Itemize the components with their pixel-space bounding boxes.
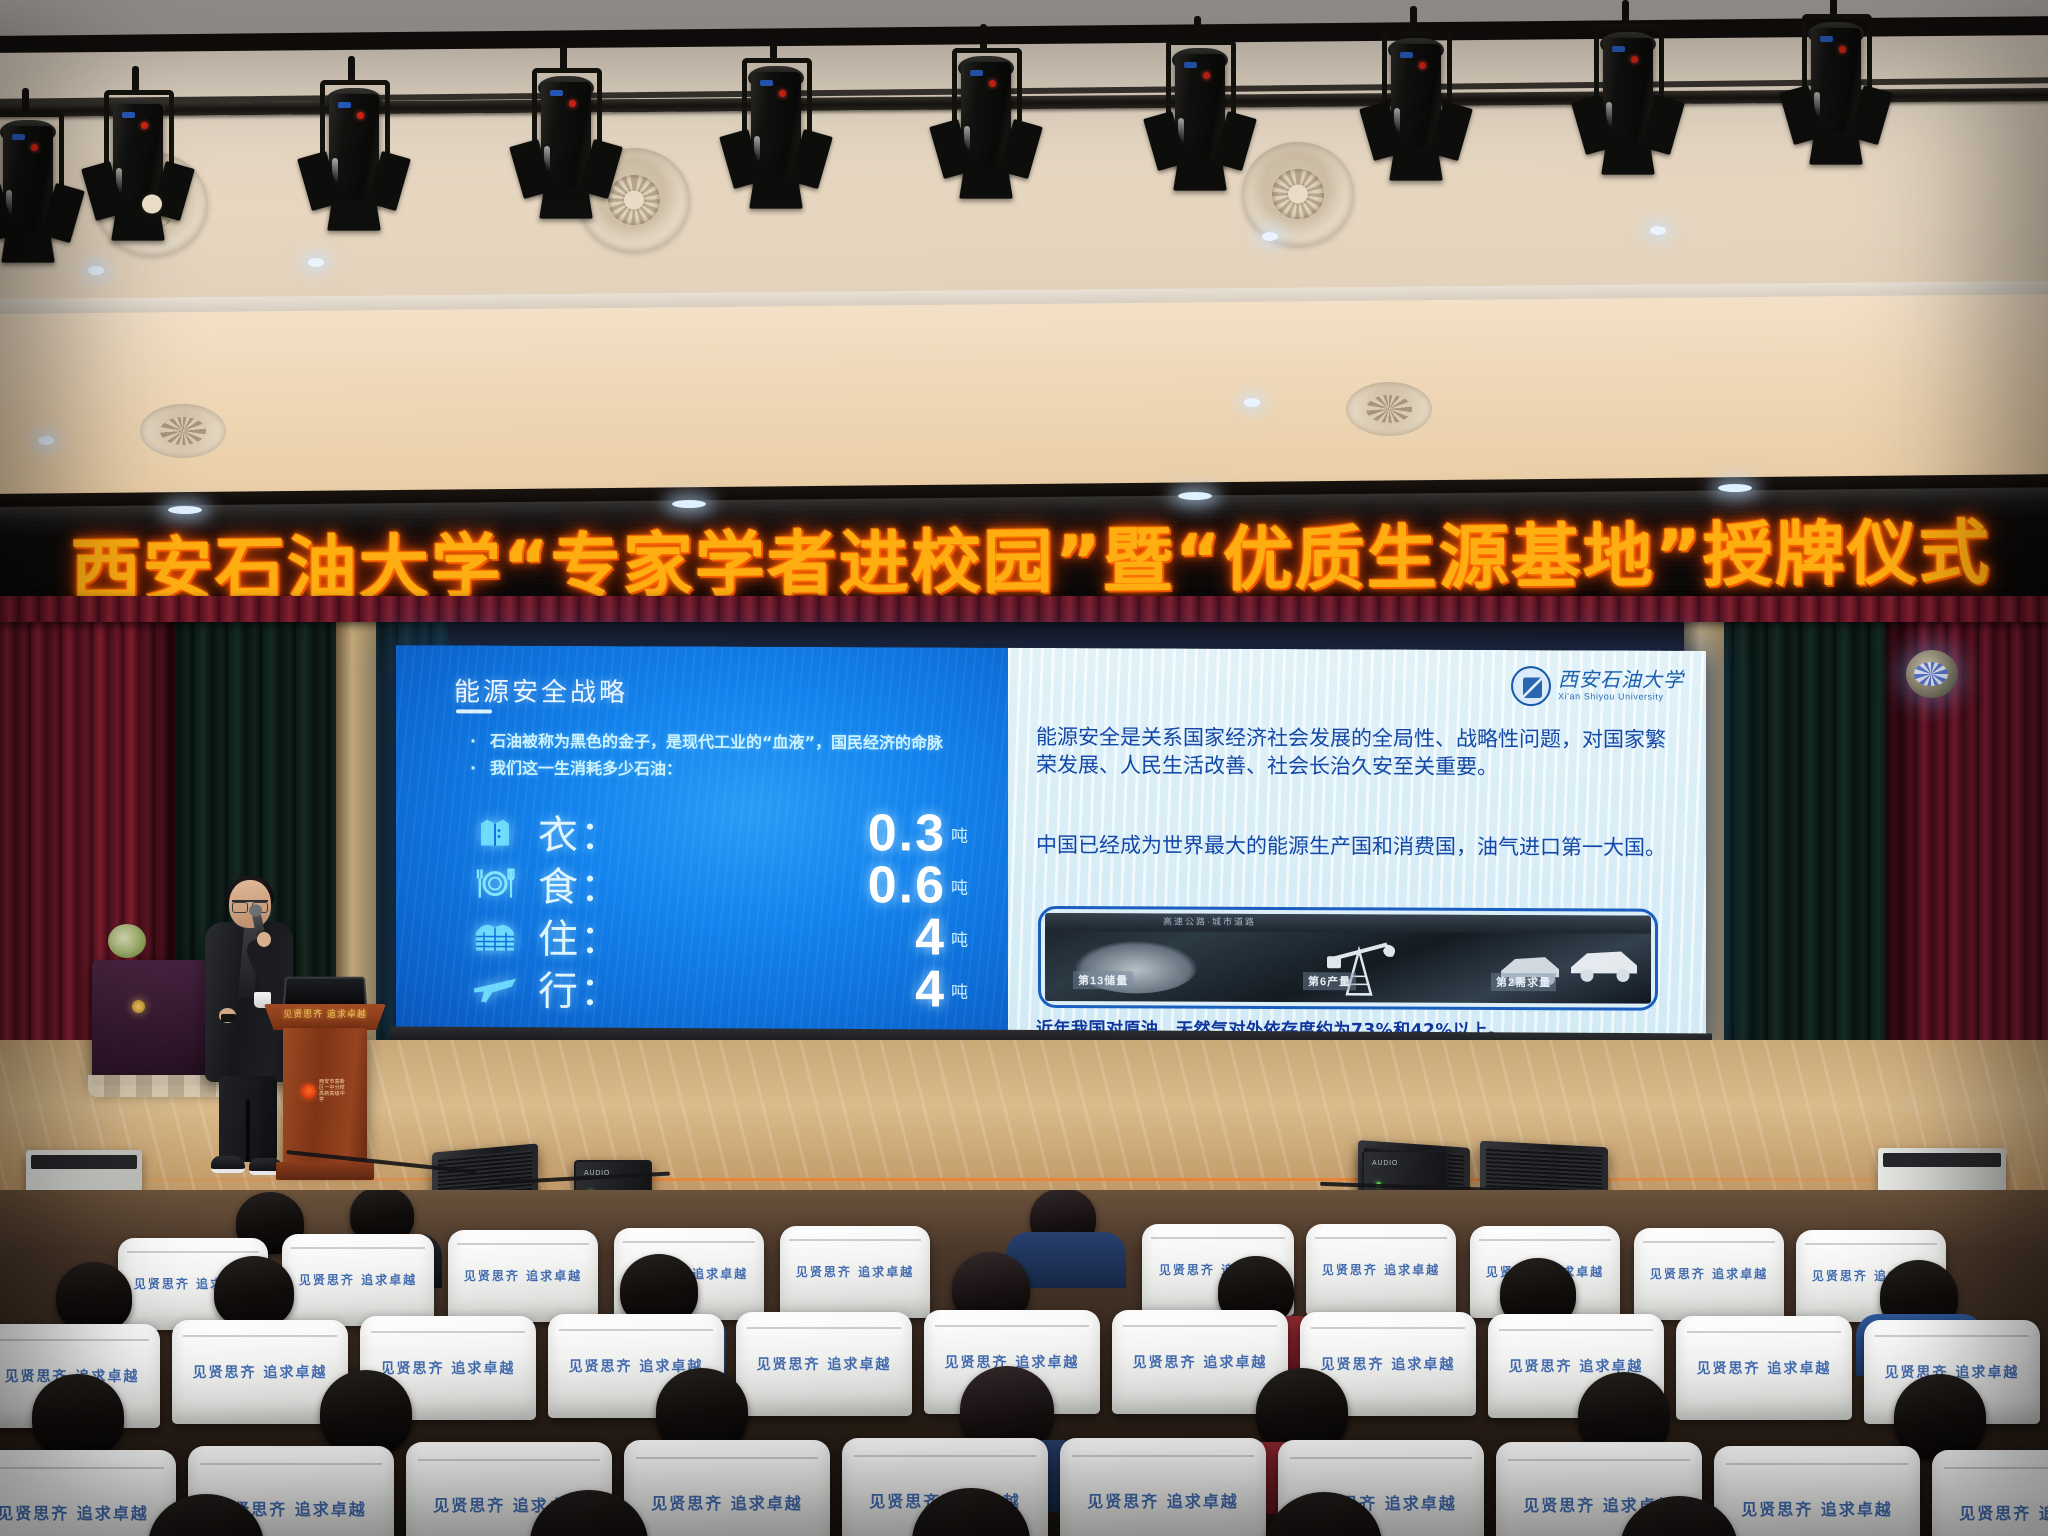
audience-seat: 见贤思齐 追求卓越 — [448, 1230, 598, 1322]
podium-base — [276, 1162, 374, 1180]
consumption-unit: 吨 — [946, 925, 992, 950]
chair-cover-motto: 见贤思齐 追求卓越 — [1300, 1354, 1476, 1374]
university-logo: 西安石油大学 Xi'an Shiyou University — [1511, 666, 1684, 707]
ceiling-air-vent — [140, 404, 226, 458]
slide-left: 能源安全战略 · 石油被称为黑色的金子，是现代工业的“血液”，国民经济的命脉 ·… — [396, 645, 1008, 1038]
audience-seat: 见贤思齐 追求卓越 — [1306, 1224, 1456, 1316]
chair-cover-motto: 见贤思齐 追求卓越 — [1714, 1496, 1920, 1520]
audience-head — [56, 1262, 132, 1332]
consumption-label: 食： — [538, 855, 708, 914]
chair-cover-motto: 见贤思齐 追求卓越 — [172, 1362, 348, 1382]
ceiling-downlight — [1244, 398, 1260, 407]
oil-industry-photo: 高速公路·城市道路 — [1045, 913, 1651, 1004]
slide-left-title: 能源安全战略 — [454, 671, 628, 709]
chair-cover-motto: 见贤思齐 追求卓越 — [282, 1271, 434, 1288]
audience-seat: 见贤思齐 追求卓越 — [282, 1234, 434, 1326]
audience-head — [320, 1370, 412, 1456]
school-logo-on-podium: 西安市高新区一中分校 高新高级中学 — [301, 1082, 349, 1100]
stage-light-fixture — [530, 64, 604, 214]
chair-cover-motto: 见贤思齐 追求卓越 — [0, 1500, 176, 1524]
bullet-text: 我们这一生消耗多少石油： — [490, 757, 682, 782]
slide-left-bullets: · 石油被称为黑色的金子，是现代工业的“血液”，国民经济的命脉 · 我们这一生消… — [456, 729, 976, 785]
chair-cover-motto: 见贤思齐 追求卓越 — [1634, 1265, 1784, 1282]
slide-right: 西安石油大学 Xi'an Shiyou University 能源安全是关系国家… — [1008, 648, 1706, 1041]
stage-light-fixture — [1800, 10, 1874, 160]
consumption-list: 衣： 0.3 吨 食： 0.6 吨 — [452, 805, 992, 1015]
chair-cover-motto: 见贤思齐 追求卓越 — [1306, 1261, 1456, 1278]
audience-area: 见贤思齐 追求卓越 见贤思齐 追求卓越 见贤思齐 追求卓越 见贤思齐 追求卓越 … — [0, 1190, 2048, 1536]
audience-seat: 见贤思齐 追求卓越 — [0, 1450, 176, 1536]
photo-caption: 第6产量 — [1303, 972, 1356, 990]
consumption-label: 行： — [538, 959, 708, 1018]
audience-seat: 见贤思齐 追求卓越 — [1634, 1228, 1784, 1320]
audience-seat: 见贤思齐 追求卓越 — [780, 1226, 930, 1318]
stage-light-fixture — [1380, 26, 1454, 176]
school-logo-text: 西安市高新区一中分校 高新高级中学 — [319, 1079, 349, 1104]
stage-light-fixture — [740, 54, 814, 204]
stage-light-fixture — [1164, 36, 1238, 186]
ceiling-downlight — [88, 266, 104, 275]
consumption-value: 0.6 — [708, 855, 946, 916]
podium-motto: 见贤思齐 追求卓越 — [270, 1007, 380, 1020]
consumption-unit: 吨 — [946, 821, 992, 846]
chair-cover-motto: 见贤思齐 追求卓越 — [780, 1263, 930, 1280]
chair-cover-motto: 见贤思齐 追求卓越 — [448, 1267, 598, 1284]
chair-cover-motto: 见贤思齐 追求卓越 — [1932, 1500, 2048, 1524]
stage-light-fixture — [318, 76, 392, 226]
consumption-label: 衣： — [538, 803, 708, 862]
mirror-ball-light — [1906, 650, 1958, 698]
flower-arrangement — [108, 924, 146, 958]
slide-left-title-rule — [456, 709, 492, 713]
banner-uplight — [1178, 492, 1212, 500]
audience-seat: 见贤思齐 追求卓越 — [624, 1440, 830, 1536]
audience-seat: 见贤思齐 追求卓越 — [1932, 1450, 2048, 1536]
consumption-unit: 吨 — [946, 977, 992, 1002]
shirt-icon — [452, 811, 538, 851]
slide-right-paragraph-2: 中国已经成为世界最大的能源生产国和消费国，油气进口第一大国。 — [1036, 832, 1686, 863]
stage-light-fixture — [0, 108, 66, 258]
ceiling-downlight — [308, 258, 324, 267]
slide-right-paragraph-1: 能源安全是关系国家经济社会发展的全局性、战略性问题，对国家繁荣发展、人民生活改善… — [1036, 724, 1686, 782]
laptop-on-podium — [283, 977, 367, 1006]
consumption-row: 行： 4 吨 — [452, 961, 992, 1015]
audience-seat: 见贤思齐 追求卓越 — [1060, 1438, 1266, 1536]
photo-caption: 第13储量 — [1073, 971, 1133, 989]
dining-icon — [452, 864, 538, 902]
audience-seat: 见贤思齐 追求卓越 — [1676, 1316, 1852, 1420]
projection-screen: 能源安全战略 · 石油被称为黑色的金子，是现代工业的“血液”，国民经济的命脉 ·… — [396, 645, 1706, 1041]
audience-seat: 见贤思齐 追求卓越 — [736, 1312, 912, 1416]
consumption-value: 4 — [708, 959, 946, 1020]
presentation-clicker — [221, 1014, 236, 1022]
chair-cover-motto: 见贤思齐 追求卓越 — [1112, 1352, 1288, 1372]
consumption-row: 衣： 0.3 吨 — [452, 805, 992, 859]
consumption-row: 住： 4 吨 — [452, 909, 992, 963]
ceiling-downlight — [38, 436, 54, 445]
university-name-cn: 西安石油大学 — [1558, 669, 1684, 690]
audience-head — [214, 1256, 294, 1328]
chair-cover-motto: 见贤思齐 追求卓越 — [1060, 1488, 1266, 1512]
school-emblem-icon — [301, 1084, 316, 1099]
table-ornament — [132, 1000, 145, 1013]
ceiling-air-vent — [1242, 142, 1354, 246]
photo-overlay-text: 高速公路·城市道路 — [1163, 914, 1256, 927]
chair-cover-motto: 见贤思齐 追求卓越 — [736, 1354, 912, 1374]
bullet-text: 石油被称为黑色的金子，是现代工业的“血液”，国民经济的命脉 — [490, 730, 943, 756]
consumption-value: 0.3 — [708, 803, 946, 864]
ceiling-downlight — [1262, 232, 1278, 241]
photo-caption: 第2需求量 — [1491, 973, 1556, 991]
consumption-row: 食： 0.6 吨 — [452, 857, 992, 911]
stage-light-fixture — [102, 86, 176, 236]
auditorium-scene: 西安石油大学“专家学者进校园”暨“优质生源基地”授牌仪式 能源安全战略 · 石油… — [0, 0, 2048, 1536]
ceiling-lower-panel — [0, 294, 2048, 504]
consumption-label: 住： — [538, 907, 708, 966]
bullet-marker: · — [456, 729, 490, 753]
bullet-marker: · — [456, 756, 490, 780]
airplane-icon — [452, 970, 538, 1004]
stage-light-fixture — [950, 44, 1024, 194]
ceiling-downlight — [1650, 226, 1666, 235]
audience-seat: 见贤思齐 追求卓越 — [1714, 1446, 1920, 1536]
audience-head — [32, 1374, 124, 1458]
slide-right-photo-frame: 高速公路·城市道路 — [1038, 906, 1658, 1011]
chair-cover-motto: 见贤思齐 追求卓越 — [1676, 1358, 1852, 1378]
building-icon — [452, 918, 538, 952]
consumption-unit: 吨 — [946, 873, 992, 898]
stage-curtain-valance — [0, 596, 2048, 622]
chair-cover-motto: 见贤思齐 追求卓越 — [624, 1490, 830, 1514]
chair-cover-motto: 见贤思齐 追求卓越 — [1488, 1356, 1664, 1376]
stage-light-fixture — [1592, 20, 1666, 170]
university-emblem-icon — [1511, 666, 1551, 706]
banner-uplight — [1718, 484, 1752, 492]
ceiling-air-vent — [1346, 382, 1432, 436]
consumption-value: 4 — [708, 907, 946, 968]
